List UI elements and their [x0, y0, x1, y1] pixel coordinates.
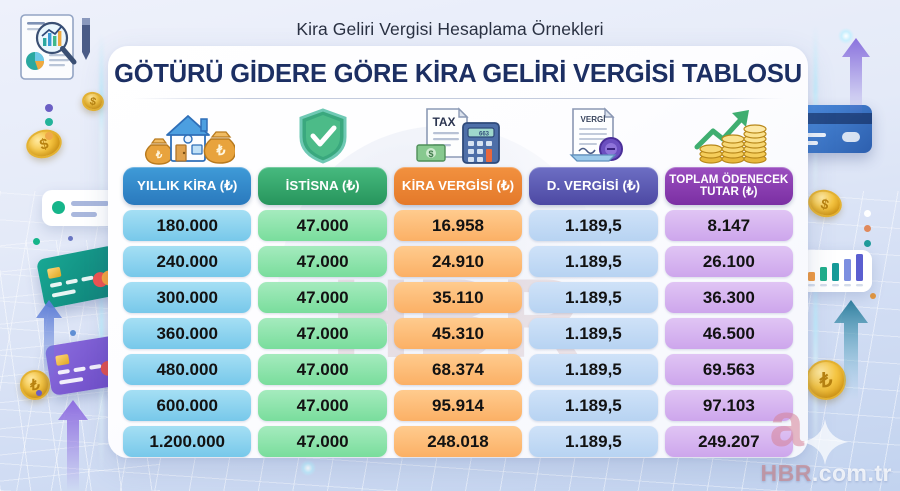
cell-wrap: 1.200.000 — [123, 426, 251, 457]
svg-text:663: 663 — [479, 132, 490, 138]
svg-text:$: $ — [429, 149, 434, 159]
accent-dot-5 — [68, 236, 73, 241]
column-header-toplam[interactable]: TOPLAM ÖDENECEK TUTAR (₺) — [665, 167, 793, 205]
column-header-yillik_kira[interactable]: YILLIK KİRA (₺) — [123, 167, 251, 205]
cell-yillik_kira: 600.000 — [123, 390, 251, 421]
svg-text:₺: ₺ — [216, 142, 226, 158]
cell-wrap: 45.310 — [394, 318, 522, 349]
cell-wrap: 47.000 — [258, 426, 386, 457]
table-row: 600.00047.00095.9141.189,597.103 — [123, 390, 793, 421]
cell-wrap: 1.189,5 — [529, 354, 657, 385]
cell-wrap: 26.100 — [665, 246, 793, 277]
house-money-bags-icon: ₺ ₺ — [139, 107, 235, 165]
accent-dot-12 — [870, 293, 876, 299]
shield-check-icon — [297, 107, 349, 165]
cell-d_vergisi: 1.189,5 — [529, 354, 657, 385]
accent-dot-4 — [33, 238, 40, 245]
column-header-cell-toplam: TOPLAM ÖDENECEK TUTAR (₺) — [665, 167, 793, 205]
cell-toplam: 249.207 — [665, 426, 793, 457]
arrow-up-purple-icon — [58, 400, 88, 491]
cell-yillik_kira: 300.000 — [123, 282, 251, 313]
report-magnifier-icon — [18, 12, 100, 84]
cell-toplam: 26.100 — [665, 246, 793, 277]
title-divider — [132, 98, 784, 99]
glow-streak-left-top — [100, 34, 103, 214]
cell-wrap: 24.910 — [394, 246, 522, 277]
infographic-canvas: Kira Geliri Vergisi Hesaplama Örnekleri … — [0, 0, 900, 491]
cell-wrap: 95.914 — [394, 390, 522, 421]
cell-istisna: 47.000 — [258, 354, 386, 385]
column-icon-4 — [665, 105, 793, 165]
cell-toplam: 46.500 — [665, 318, 793, 349]
arrow-up-teal-icon — [834, 300, 868, 400]
accent-dot-1 — [45, 104, 53, 112]
column-header-istisna[interactable]: İSTİSNA (₺) — [258, 167, 386, 205]
column-header-d_vergisi[interactable]: D. VERGİSİ (₺) — [529, 167, 657, 205]
brand-watermark: HBR.com.tr — [760, 460, 892, 487]
cell-toplam: 97.103 — [665, 390, 793, 421]
cell-yillik_kira: 480.000 — [123, 354, 251, 385]
cell-toplam: 8.147 — [665, 210, 793, 241]
column-header-cell-yillik_kira: YILLIK KİRA (₺) — [123, 167, 251, 205]
table-row: 360.00047.00045.3101.189,546.500 — [123, 318, 793, 349]
cell-d_vergisi: 1.189,5 — [529, 282, 657, 313]
table-row: 300.00047.00035.1101.189,536.300 — [123, 282, 793, 313]
cell-wrap: 1.189,5 — [529, 390, 657, 421]
svg-text:VERGİ: VERGİ — [581, 115, 606, 124]
coin-dollar-right-1: $ — [805, 186, 845, 220]
cell-wrap: 8.147 — [665, 210, 793, 241]
page-title: GÖTÜRÜ GİDERE GÖRE KİRA GELİRİ VERGİSİ T… — [108, 60, 808, 89]
column-icon-0: ₺ ₺ — [123, 105, 251, 165]
svg-text:₺: ₺ — [155, 150, 163, 161]
table-row: 1.200.00047.000248.0181.189,5249.207 — [123, 426, 793, 457]
cell-kira_vergisi: 16.958 — [394, 210, 522, 241]
cell-wrap: 69.563 — [665, 354, 793, 385]
cell-wrap: 300.000 — [123, 282, 251, 313]
tax-table: ₺ ₺ — [123, 105, 793, 457]
cell-istisna: 47.000 — [258, 282, 386, 313]
cell-wrap: 240.000 — [123, 246, 251, 277]
table-header-row: YILLIK KİRA (₺)İSTİSNA (₺)KİRA VERGİSİ (… — [123, 167, 793, 205]
cell-kira_vergisi: 35.110 — [394, 282, 522, 313]
accent-dot-6 — [70, 330, 76, 336]
cell-wrap: 360.000 — [123, 318, 251, 349]
cell-kira_vergisi: 248.018 — [394, 426, 522, 457]
cell-wrap: 1.189,5 — [529, 426, 657, 457]
column-header-cell-istisna: İSTİSNA (₺) — [258, 167, 386, 205]
cell-toplam: 69.563 — [665, 354, 793, 385]
coin-dollar-left-1: $ — [23, 126, 65, 163]
mini-bar-chart-card — [800, 250, 872, 292]
cell-istisna: 47.000 — [258, 246, 386, 277]
cell-wrap: 36.300 — [665, 282, 793, 313]
cell-wrap: 248.018 — [394, 426, 522, 457]
cell-kira_vergisi: 68.374 — [394, 354, 522, 385]
column-icon-1 — [258, 105, 386, 165]
cell-wrap: 47.000 — [258, 390, 386, 421]
table-row: 180.00047.00016.9581.189,58.147 — [123, 210, 793, 241]
cell-yillik_kira: 1.200.000 — [123, 426, 251, 457]
table-row: 240.00047.00024.9101.189,526.100 — [123, 246, 793, 277]
cell-istisna: 47.000 — [258, 318, 386, 349]
cell-d_vergisi: 1.189,5 — [529, 318, 657, 349]
cell-kira_vergisi: 95.914 — [394, 390, 522, 421]
cell-yillik_kira: 180.000 — [123, 210, 251, 241]
brand-watermark-hbr: HBR — [760, 460, 811, 486]
cell-wrap: 47.000 — [258, 318, 386, 349]
cell-d_vergisi: 1.189,5 — [529, 210, 657, 241]
cell-d_vergisi: 1.189,5 — [529, 246, 657, 277]
cell-kira_vergisi: 24.910 — [394, 246, 522, 277]
cell-wrap: 47.000 — [258, 282, 386, 313]
cell-yillik_kira: 240.000 — [123, 246, 251, 277]
brand-watermark-tld: .com.tr — [812, 460, 892, 486]
table-icon-row: ₺ ₺ — [123, 105, 793, 165]
cell-wrap: 1.189,5 — [529, 246, 657, 277]
accent-dot-2 — [45, 118, 53, 126]
column-header-cell-kira_vergisi: KİRA VERGİSİ (₺) — [394, 167, 522, 205]
column-icon-2: TAX $ 663 — [394, 105, 522, 165]
coin-dollar-left-2: $ — [80, 90, 105, 113]
cell-wrap: 47.000 — [258, 246, 386, 277]
cell-istisna: 47.000 — [258, 390, 386, 421]
svg-text:TAX: TAX — [432, 115, 455, 129]
cell-wrap: 180.000 — [123, 210, 251, 241]
glow-spark-bottom — [300, 460, 316, 476]
cell-wrap: 47.000 — [258, 354, 386, 385]
cell-wrap: 68.374 — [394, 354, 522, 385]
cell-wrap: 97.103 — [665, 390, 793, 421]
accent-dot-3 — [45, 132, 53, 140]
accent-dot-8 — [36, 390, 42, 396]
cell-toplam: 36.300 — [665, 282, 793, 313]
vergi-document-seal-icon: VERGİ — [557, 107, 629, 165]
cell-yillik_kira: 360.000 — [123, 318, 251, 349]
cell-wrap: 1.189,5 — [529, 282, 657, 313]
growth-coins-icon — [689, 107, 769, 165]
cell-wrap: 46.500 — [665, 318, 793, 349]
cell-wrap: 16.958 — [394, 210, 522, 241]
cell-d_vergisi: 1.189,5 — [529, 390, 657, 421]
tax-calculator-icon: TAX $ 663 — [413, 107, 503, 165]
column-icon-3: VERGİ — [529, 105, 657, 165]
table-card: GÖTÜRÜ GİDERE GÖRE KİRA GELİRİ VERGİSİ T… — [108, 46, 808, 458]
cell-kira_vergisi: 45.310 — [394, 318, 522, 349]
coin-lira-left: ₺ — [20, 370, 50, 400]
accent-dot-9 — [864, 210, 871, 217]
cell-d_vergisi: 1.189,5 — [529, 426, 657, 457]
cell-istisna: 47.000 — [258, 210, 386, 241]
sparkle-icon — [802, 419, 848, 465]
column-header-kira_vergisi[interactable]: KİRA VERGİSİ (₺) — [394, 167, 522, 205]
cell-wrap: 35.110 — [394, 282, 522, 313]
page-subtitle: Kira Geliri Vergisi Hesaplama Örnekleri — [0, 19, 900, 40]
table-row: 480.00047.00068.3741.189,569.563 — [123, 354, 793, 385]
cell-wrap: 249.207 — [665, 426, 793, 457]
column-header-cell-d_vergisi: D. VERGİSİ (₺) — [529, 167, 657, 205]
cell-wrap: 480.000 — [123, 354, 251, 385]
accent-dot-11 — [864, 240, 871, 247]
cell-wrap: 600.000 — [123, 390, 251, 421]
cell-wrap: 1.189,5 — [529, 318, 657, 349]
coin-lira-right: ₺ — [806, 360, 846, 400]
cell-istisna: 47.000 — [258, 426, 386, 457]
cell-wrap: 1.189,5 — [529, 210, 657, 241]
table-body: 180.00047.00016.9581.189,58.147240.00047… — [123, 210, 793, 457]
cell-wrap: 47.000 — [258, 210, 386, 241]
accent-dot-10 — [864, 225, 871, 232]
